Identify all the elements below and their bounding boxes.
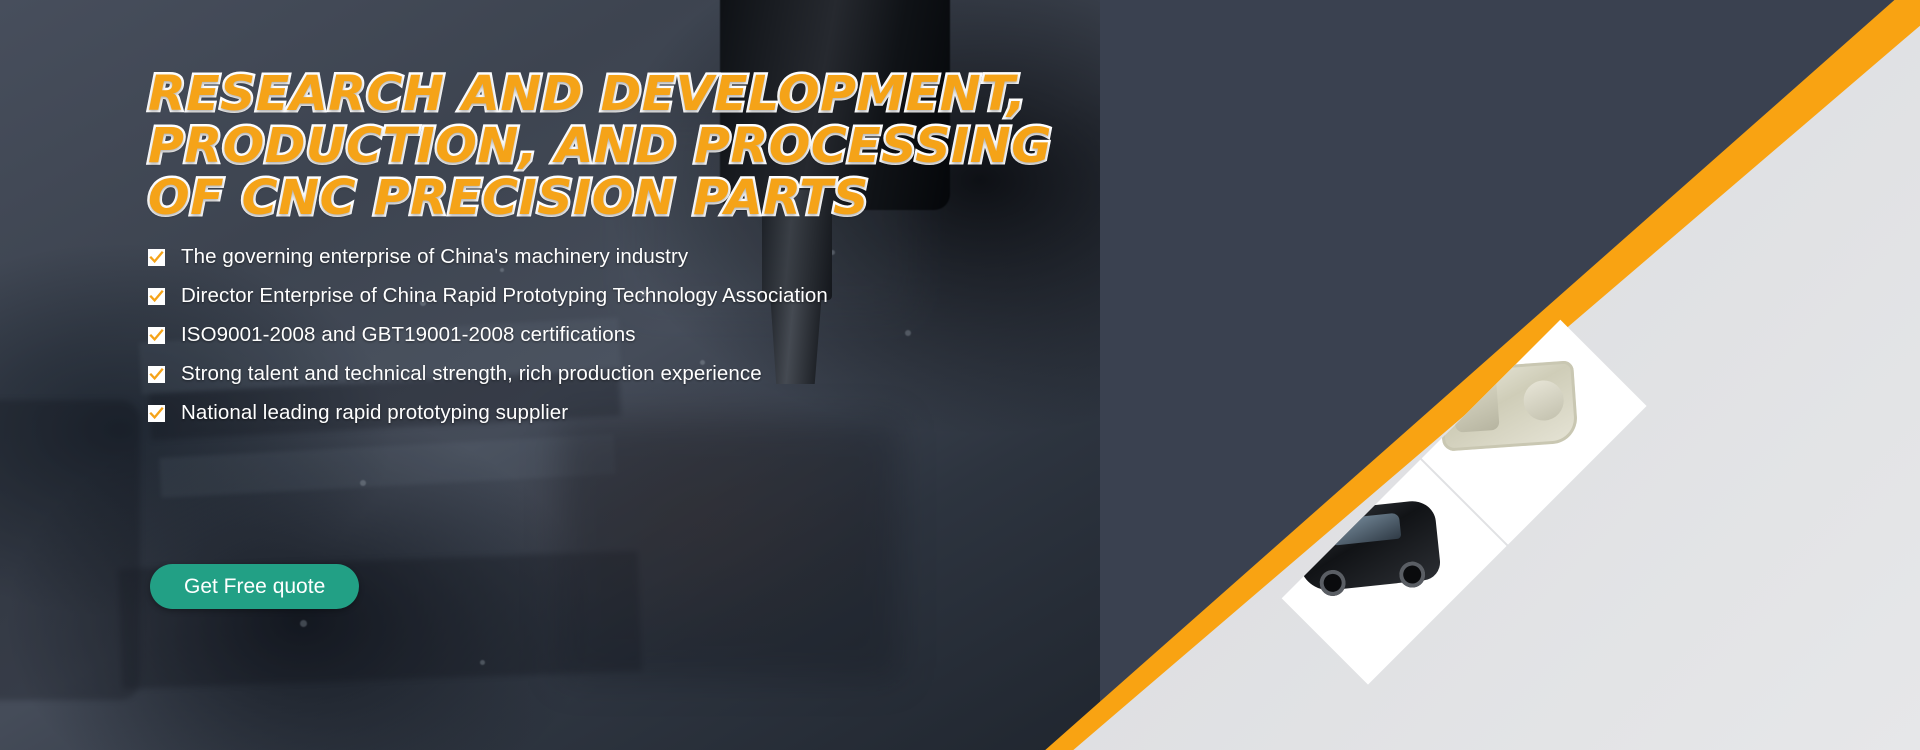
headline-line-3: OF CNC PRECISION PARTS [148,176,944,220]
feature-item: Director Enterprise of China Rapid Proto… [148,277,828,316]
radiator-fan-shroud-image [1270,168,1466,364]
feature-label: Director Enterprise of China Rapid Proto… [181,286,828,307]
headline-line-1: RESEARCH AND DEVELOPMENT, [148,72,944,116]
headline: RESEARCH AND DEVELOPMENT, PRODUCTION, AN… [148,72,928,228]
checkbox-checked-icon [148,366,165,383]
feature-label: The governing enterprise of China's mach… [181,247,688,268]
gallery-tile[interactable] [1229,127,1506,404]
feature-item: The governing enterprise of China's mach… [148,238,828,277]
checkbox-checked-icon [148,327,165,344]
feature-label: National leading rapid prototyping suppl… [181,403,568,424]
gallery-tile[interactable] [1089,0,1366,265]
control-panel-bezel-image [1130,28,1326,224]
get-free-quote-button[interactable]: Get Free quote [150,564,359,609]
feature-list: The governing enterprise of China's mach… [148,238,828,433]
feature-item: Strong talent and technical strength, ri… [148,355,828,394]
feature-label: Strong talent and technical strength, ri… [181,364,762,385]
checkbox-checked-icon [148,249,165,266]
feature-item: ISO9001-2008 and GBT19001-2008 certifica… [148,316,828,355]
wood-trim-air-vents-image [1130,308,1326,504]
feature-item: National leading rapid prototyping suppl… [148,394,828,433]
checkbox-checked-icon [148,288,165,305]
gallery-tile[interactable] [1229,407,1506,684]
checkbox-checked-icon [148,405,165,422]
headline-line-2: PRODUCTION, AND PROCESSING [148,124,944,168]
feature-label: ISO9001-2008 and GBT19001-2008 certifica… [181,325,636,346]
hero-banner: RESEARCH AND DEVELOPMENT, PRODUCTION, AN… [0,0,1920,750]
